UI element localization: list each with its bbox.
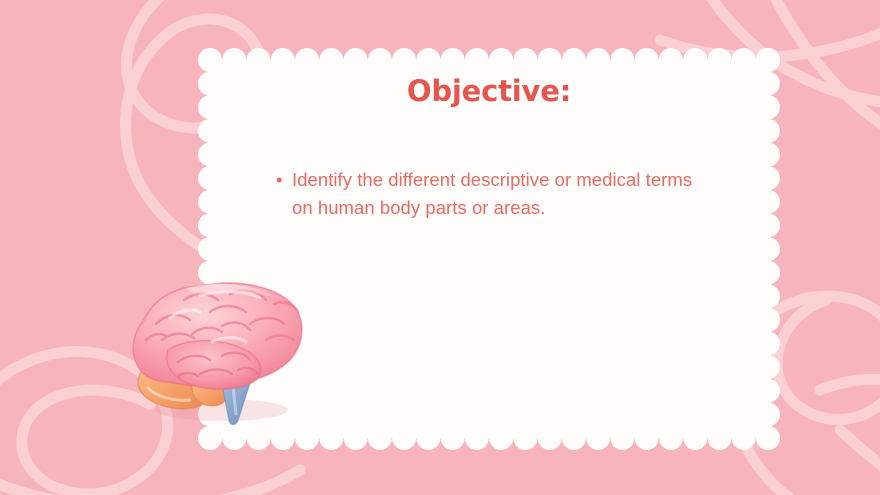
list-item: • Identify the different descriptive or … (274, 166, 714, 222)
slide-canvas: Objective: • Identify the different desc… (0, 0, 880, 495)
bullet-text: Identify the different descriptive or me… (292, 169, 692, 218)
objective-bullet-list: • Identify the different descriptive or … (274, 166, 714, 222)
bullet-marker-icon: • (276, 166, 283, 194)
page-title: Objective: (198, 74, 780, 108)
brain-illustration (126, 278, 312, 430)
